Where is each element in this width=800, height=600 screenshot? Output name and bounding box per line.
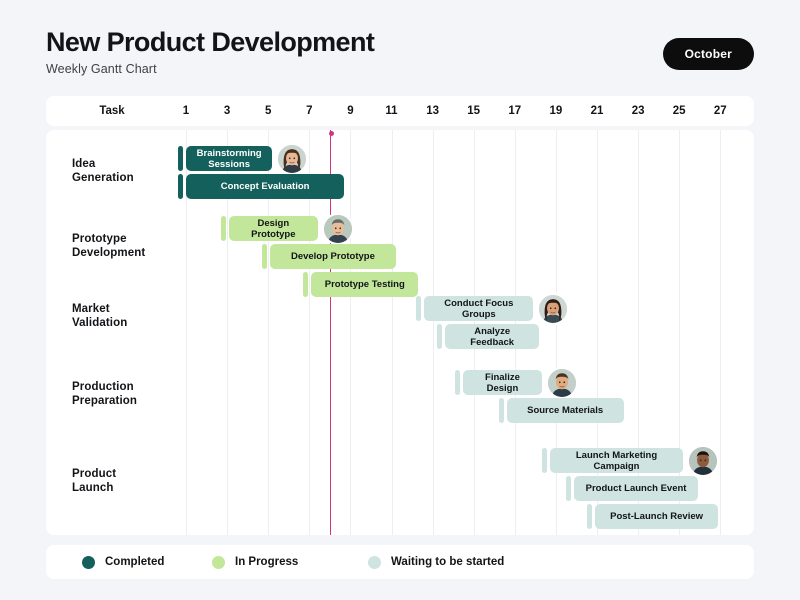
axis-tick-5: 5	[256, 96, 280, 126]
task-bar[interactable]: Conduct Focus Groups	[424, 296, 533, 321]
axis-tick-11: 11	[380, 96, 404, 126]
task-bar-accent	[437, 324, 442, 349]
task-bar-label: Analyze Feedback	[452, 326, 533, 348]
gridline-day-19	[556, 130, 557, 535]
task-bar-label: Concept Evaluation	[221, 181, 310, 192]
legend-item-progress[interactable]: In Progress	[212, 556, 298, 569]
group-label-line1: Market	[72, 302, 182, 316]
gridline-day-21	[597, 130, 598, 535]
task-bar-accent	[178, 174, 183, 199]
group-label-line2: Preparation	[72, 394, 182, 408]
task-bar-accent	[221, 216, 226, 241]
task-bar-accent	[262, 244, 267, 269]
task-bar[interactable]: Prototype Testing	[311, 272, 418, 297]
task-bar-accent	[499, 398, 504, 423]
gantt-chart-page: New Product Development Weekly Gantt Cha…	[0, 0, 800, 600]
axis-tick-25: 25	[667, 96, 691, 126]
group-label-line1: Idea	[72, 157, 182, 171]
axis-tick-7: 7	[297, 96, 321, 126]
task-bar[interactable]: Develop Prototype	[270, 244, 395, 269]
task-bar[interactable]: Post-Launch Review	[595, 504, 718, 529]
axis-tick-15: 15	[462, 96, 486, 126]
task-bar[interactable]: Launch Marketing Campaign	[550, 448, 684, 473]
task-bar[interactable]: BrainstormingSessions	[186, 146, 272, 171]
task-group-label-1: IdeaGeneration	[72, 157, 182, 185]
task-bar-accent	[303, 272, 308, 297]
task-bar-accent	[455, 370, 460, 395]
avatar[interactable]	[546, 367, 578, 399]
task-bar-label: Post-Launch Review	[610, 511, 703, 522]
legend: CompletedIn ProgressWaiting to be starte…	[46, 545, 754, 579]
avatar[interactable]	[687, 445, 719, 477]
task-group-label-5: ProductLaunch	[72, 467, 182, 495]
task-group-label-3: MarketValidation	[72, 302, 182, 330]
gridline-day-11	[392, 130, 393, 535]
legend-swatch-waiting	[368, 556, 381, 569]
task-bar-label: Product Launch Event	[586, 483, 687, 494]
task-bar-accent	[416, 296, 421, 321]
gridline-day-25	[679, 130, 680, 535]
task-bar[interactable]: Concept Evaluation	[186, 174, 344, 199]
group-label-line2: Launch	[72, 481, 182, 495]
legend-label: In Progress	[235, 556, 298, 568]
legend-swatch-progress	[212, 556, 225, 569]
timeline-axis-header: Task 13579111315171921232527	[46, 96, 754, 126]
page-subtitle: Weekly Gantt Chart	[46, 62, 754, 77]
task-bar-label: Design Prototype	[236, 218, 310, 240]
page-title: New Product Development	[46, 26, 754, 58]
month-badge[interactable]: October	[663, 38, 754, 70]
task-bar-label: Source Materials	[527, 405, 603, 416]
task-bar-accent	[178, 146, 183, 171]
task-bar[interactable]: Analyze Feedback	[445, 324, 540, 349]
avatar[interactable]	[276, 143, 308, 175]
task-bar-label: Develop Prototype	[291, 251, 375, 262]
axis-tick-27: 27	[708, 96, 732, 126]
task-group-label-2: PrototypeDevelopment	[72, 232, 182, 260]
axis-tick-21: 21	[585, 96, 609, 126]
avatar[interactable]	[322, 213, 354, 245]
axis-tick-13: 13	[421, 96, 445, 126]
axis-task-column-label: Task	[46, 96, 178, 126]
task-bar-accent	[566, 476, 571, 501]
gridline-day-23	[638, 130, 639, 535]
task-bar[interactable]: Design Prototype	[229, 216, 317, 241]
task-bar-label-line1: Brainstorming	[197, 148, 262, 159]
today-marker-dot	[329, 131, 334, 136]
task-bar[interactable]: Finalize Design	[463, 370, 541, 395]
group-label-line2: Generation	[72, 171, 182, 185]
task-bar-label-line2: Sessions	[197, 159, 262, 170]
group-label-line2: Development	[72, 246, 182, 260]
task-bar-accent	[587, 504, 592, 529]
task-bar-label: Prototype Testing	[325, 279, 405, 290]
group-label-line2: Validation	[72, 316, 182, 330]
legend-swatch-completed	[82, 556, 95, 569]
task-bar[interactable]: Source Materials	[507, 398, 624, 423]
legend-item-completed[interactable]: Completed	[82, 556, 164, 569]
task-bar-label: Conduct Focus Groups	[431, 298, 526, 320]
gridline-day-13	[433, 130, 434, 535]
task-bar-label: Launch Marketing Campaign	[557, 450, 677, 472]
gantt-chart-body: IdeaGenerationPrototypeDevelopmentMarket…	[46, 130, 754, 535]
gridline-day-9	[350, 130, 351, 535]
axis-tick-23: 23	[626, 96, 650, 126]
gridline-day-27	[720, 130, 721, 535]
axis-tick-3: 3	[215, 96, 239, 126]
axis-tick-19: 19	[544, 96, 568, 126]
task-bar[interactable]: Product Launch Event	[574, 476, 697, 501]
legend-label: Waiting to be started	[391, 556, 504, 568]
avatar[interactable]	[537, 293, 569, 325]
page-header: New Product Development Weekly Gantt Cha…	[46, 26, 754, 86]
group-label-line1: Prototype	[72, 232, 182, 246]
group-label-line1: Production	[72, 380, 182, 394]
legend-label: Completed	[105, 556, 164, 568]
legend-item-waiting[interactable]: Waiting to be started	[368, 556, 504, 569]
axis-tick-1: 1	[174, 96, 198, 126]
group-label-line1: Product	[72, 467, 182, 481]
axis-tick-9: 9	[338, 96, 362, 126]
task-bar-accent	[542, 448, 547, 473]
task-group-label-4: ProductionPreparation	[72, 380, 182, 408]
task-bar-label: Finalize Design	[470, 372, 534, 394]
axis-tick-17: 17	[503, 96, 527, 126]
